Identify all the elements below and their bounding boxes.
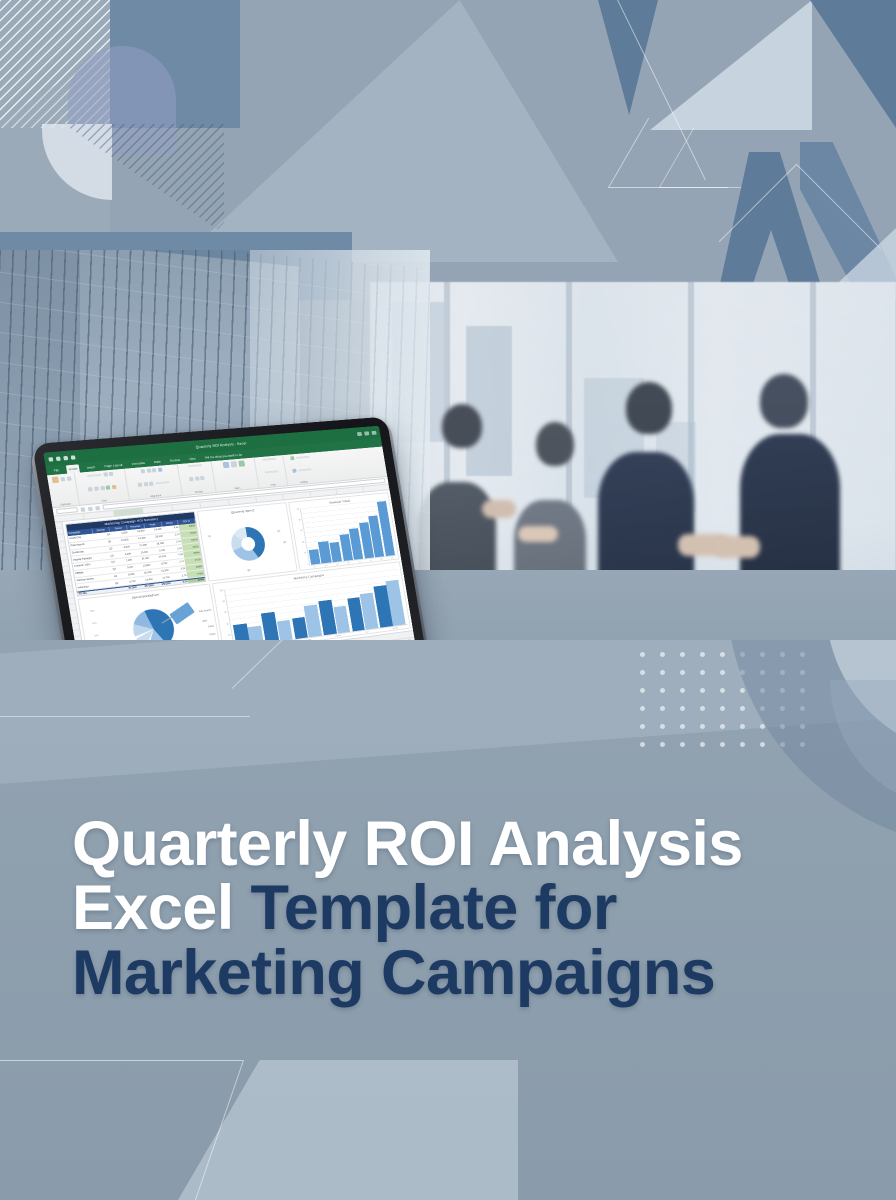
donut-label-q1: Q1 — [208, 535, 211, 537]
dot — [640, 724, 645, 729]
dot — [640, 688, 645, 693]
total-spend: 61,000 — [120, 586, 138, 591]
conditional-formatting-icon[interactable] — [222, 462, 229, 468]
dot — [720, 742, 725, 747]
paste-icon[interactable] — [51, 477, 58, 484]
group-label-font: Font — [102, 499, 108, 503]
total-roi: 224% — [188, 578, 205, 583]
y-tick: 30% — [94, 635, 99, 638]
poster-title: Quarterly ROI Analysis Excel Template fo… — [72, 812, 862, 1005]
dot — [720, 706, 725, 711]
bar-revenue — [277, 620, 293, 641]
percent-icon[interactable] — [194, 476, 199, 480]
editing-row-1[interactable] — [290, 455, 309, 460]
title-word-excel: Excel — [72, 873, 234, 943]
copy-icon[interactable] — [66, 476, 71, 480]
font-color-icon[interactable] — [111, 485, 116, 489]
title-line-1: Quarterly ROI Analysis — [72, 812, 862, 876]
cells-row-2[interactable] — [264, 470, 278, 473]
number-format-row[interactable] — [188, 464, 202, 467]
dot — [680, 706, 685, 711]
enter-formula-icon[interactable] — [88, 506, 93, 510]
bar-spend — [261, 611, 279, 643]
donut-plot-area: Q1 Q2 Q3 Q4 — [199, 509, 297, 581]
font-size-box[interactable] — [103, 472, 108, 476]
pie-legend-3: Email — [209, 633, 215, 636]
align-bottom-icon[interactable] — [152, 468, 157, 472]
restore-icon[interactable] — [364, 431, 369, 435]
total-roas: 3.24 — [171, 580, 188, 585]
wrap-text-icon[interactable] — [158, 468, 163, 472]
font-row-2[interactable] — [88, 485, 116, 492]
revenue-bars — [300, 499, 396, 565]
delete-button[interactable] — [264, 470, 278, 473]
ribbon-group-editing[interactable]: Editing — [283, 452, 320, 485]
y-tick: 50% — [90, 610, 95, 613]
close-icon[interactable] — [371, 430, 376, 434]
ribbon-group-styles[interactable]: Styles — [211, 458, 259, 492]
dot — [740, 706, 745, 711]
underline-icon[interactable] — [100, 486, 105, 490]
title-phrase-template-for: Template for — [251, 873, 617, 943]
total-profit: 136,500 — [154, 582, 171, 587]
quarterly-spend-donut-chart[interactable]: Quarterly Spend Q1 Q2 Q3 Q4 — [197, 502, 298, 581]
title-line-3: Marketing Campaigns — [72, 941, 862, 1005]
minimize-icon[interactable] — [357, 431, 362, 435]
increase-font-icon[interactable] — [109, 472, 114, 476]
x-tick: Q3 — [332, 563, 342, 566]
dot — [660, 724, 665, 729]
editing-row-2[interactable] — [292, 467, 311, 473]
dot — [660, 742, 665, 747]
y-tick: 14 — [304, 553, 307, 555]
total-revenue: 197,500 — [137, 584, 155, 589]
title-space — [234, 873, 251, 943]
dot — [720, 724, 725, 729]
x-tick: Q1 — [310, 566, 321, 569]
dot — [680, 724, 685, 729]
align-left-icon[interactable] — [138, 483, 143, 487]
excel-logo-icon — [48, 457, 53, 461]
y-tick: 70 — [297, 508, 300, 510]
align-row-2[interactable] — [138, 480, 170, 487]
dot — [660, 670, 665, 675]
donut-label-q4: Q4 — [247, 570, 250, 572]
x-tick: Q2 — [365, 559, 375, 562]
roi-summary-table[interactable]: Marketing Campaign ROI Summary Campaign … — [65, 511, 207, 597]
align-middle-icon[interactable] — [146, 469, 151, 473]
guide-line-horizontal — [0, 716, 250, 717]
y-tick: 100 — [220, 589, 224, 591]
dot — [740, 688, 745, 693]
align-right-icon[interactable] — [149, 482, 154, 486]
y-tick: 28 — [302, 542, 305, 544]
clipboard-icons[interactable] — [51, 475, 71, 483]
save-icon[interactable] — [56, 456, 61, 460]
dot — [680, 670, 685, 675]
x-tick: Q1 — [354, 560, 364, 563]
name-box[interactable] — [56, 507, 78, 514]
cancel-formula-icon[interactable] — [80, 507, 85, 511]
merge-center-button[interactable] — [155, 481, 170, 484]
dot — [680, 742, 685, 747]
dot — [760, 742, 765, 747]
ribbon-group-alignment[interactable]: Alignment — [125, 464, 183, 500]
insert-button[interactable] — [262, 458, 276, 461]
format-as-table-icon[interactable] — [230, 461, 237, 467]
number-buttons-row[interactable] — [189, 476, 205, 481]
total-quarter — [103, 588, 121, 593]
dot — [700, 652, 705, 657]
x-tick: Q4 — [343, 562, 353, 565]
dot — [660, 652, 665, 657]
dot — [640, 706, 645, 711]
pie-callout-value: 46% — [202, 620, 207, 623]
donut-graphic — [229, 526, 268, 563]
pie-callout-box — [170, 602, 195, 625]
styles-icons[interactable] — [222, 460, 244, 468]
revenue-trend-chart[interactable]: Revenue Trend 70 56 42 28 14 — [288, 492, 399, 571]
group-label-cells: Cells — [270, 483, 276, 486]
total-label: TOTAL — [77, 590, 103, 596]
dot — [640, 652, 645, 657]
poster-canvas: Quarterly ROI Analysis - Excel File Home… — [0, 0, 896, 1200]
dot — [700, 706, 705, 711]
dot — [740, 742, 745, 747]
title-line-2: Excel Template for — [72, 876, 862, 940]
dot — [700, 742, 705, 747]
ribbon-group-font[interactable]: Font — [75, 469, 130, 505]
dot — [720, 670, 725, 675]
dot — [700, 688, 705, 693]
y-tick: 42 — [300, 531, 303, 533]
font-row-1[interactable] — [87, 472, 114, 478]
donut-label-q2: Q2 — [277, 531, 280, 533]
fill-color-icon[interactable] — [106, 485, 111, 489]
dot — [720, 688, 725, 693]
y-tick: 20 — [228, 635, 231, 637]
dot — [740, 724, 745, 729]
dot — [720, 652, 725, 657]
bar-spend — [318, 600, 336, 636]
number-format-dropdown[interactable] — [188, 464, 202, 467]
currency-icon[interactable] — [189, 477, 194, 481]
cell-styles-icon[interactable] — [238, 460, 245, 466]
sort-filter-button[interactable] — [296, 456, 310, 459]
clear-button[interactable] — [298, 468, 311, 471]
dot — [640, 670, 645, 675]
dot — [660, 688, 665, 693]
redo-icon[interactable] — [71, 455, 76, 459]
y-tick: 60 — [225, 612, 228, 614]
x-tick: Q4 — [387, 557, 397, 560]
dot — [680, 652, 685, 657]
y-tick: 40% — [92, 623, 97, 626]
autosum-icon[interactable] — [290, 456, 294, 460]
y-tick: 40 — [226, 624, 229, 626]
undo-icon[interactable] — [63, 455, 68, 459]
donut-label-q3: Q3 — [283, 541, 286, 543]
align-center-icon[interactable] — [143, 482, 148, 486]
italic-icon[interactable] — [94, 486, 99, 490]
pie-legend-2: Social — [208, 626, 215, 629]
cut-icon[interactable] — [60, 477, 65, 481]
font-name-box[interactable] — [87, 474, 102, 477]
cells-row-1[interactable] — [262, 458, 276, 461]
y-tick: 80 — [223, 601, 226, 603]
lower-section: Quarterly ROI Analysis Excel Template fo… — [0, 640, 896, 1200]
dot — [680, 688, 685, 693]
dot — [660, 706, 665, 711]
align-top-icon[interactable] — [141, 469, 146, 473]
pie-legend-1: Paid Search — [199, 609, 212, 613]
dot — [640, 742, 645, 747]
y-tick: 56 — [298, 519, 301, 521]
insert-function-icon[interactable] — [95, 505, 100, 509]
align-row-1[interactable] — [141, 468, 163, 474]
dot — [700, 670, 705, 675]
find-select-icon[interactable] — [292, 469, 296, 473]
dot — [700, 724, 705, 729]
bold-icon[interactable] — [88, 487, 93, 491]
ribbon-group-number[interactable]: Number — [178, 461, 217, 495]
comma-icon[interactable] — [200, 476, 205, 480]
x-tick: Q3 — [376, 558, 386, 561]
x-tick: Q2 — [321, 564, 331, 567]
